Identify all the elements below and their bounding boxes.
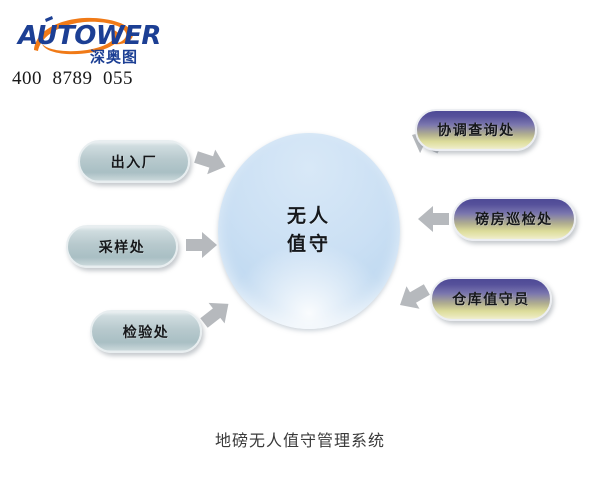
arrow-jianyanchu-to-center bbox=[196, 294, 236, 334]
center-node: 无人 值守 bbox=[218, 133, 400, 329]
node-xietiao-label: 协调查询处 bbox=[437, 120, 515, 140]
logo-chinese-name: 深奥图 bbox=[90, 48, 138, 65]
node-bangfang-label: 磅房巡检处 bbox=[475, 209, 553, 229]
node-jianyanchu[interactable]: 检验处 bbox=[90, 310, 202, 353]
arrow-churuchang-to-center bbox=[192, 145, 230, 179]
node-jianyanchu-label: 检验处 bbox=[123, 322, 170, 342]
flow-diagram: 无人 值守 出入厂 采样处 检验处 协调查询处 磅房巡检处 仓库值守员 bbox=[0, 95, 600, 425]
contact-phone: 400 8789 055 bbox=[12, 68, 133, 90]
node-churuchang[interactable]: 出入厂 bbox=[78, 140, 190, 183]
node-bangfang[interactable]: 磅房巡检处 bbox=[452, 197, 576, 241]
arrow-cangku-to-center bbox=[394, 278, 434, 316]
logo-svg: AUTOWER 深奥图 bbox=[14, 10, 194, 65]
arrow-bangfang-to-center bbox=[418, 206, 449, 232]
node-cangku-label: 仓库值守员 bbox=[452, 289, 530, 309]
node-xietiao[interactable]: 协调查询处 bbox=[415, 109, 537, 151]
arrow-caiyangchu-to-center bbox=[186, 232, 217, 258]
node-cangku[interactable]: 仓库值守员 bbox=[430, 277, 552, 321]
logo-wordmark: AUTOWER bbox=[16, 21, 161, 51]
center-node-label: 无人 值守 bbox=[287, 203, 331, 258]
node-caiyangchu-label: 采样处 bbox=[99, 237, 146, 257]
node-caiyangchu[interactable]: 采样处 bbox=[66, 225, 178, 268]
node-churuchang-label: 出入厂 bbox=[111, 152, 158, 172]
brand-logo: AUTOWER 深奥图 bbox=[14, 10, 194, 65]
diagram-caption: 地磅无人值守管理系统 bbox=[0, 427, 600, 451]
